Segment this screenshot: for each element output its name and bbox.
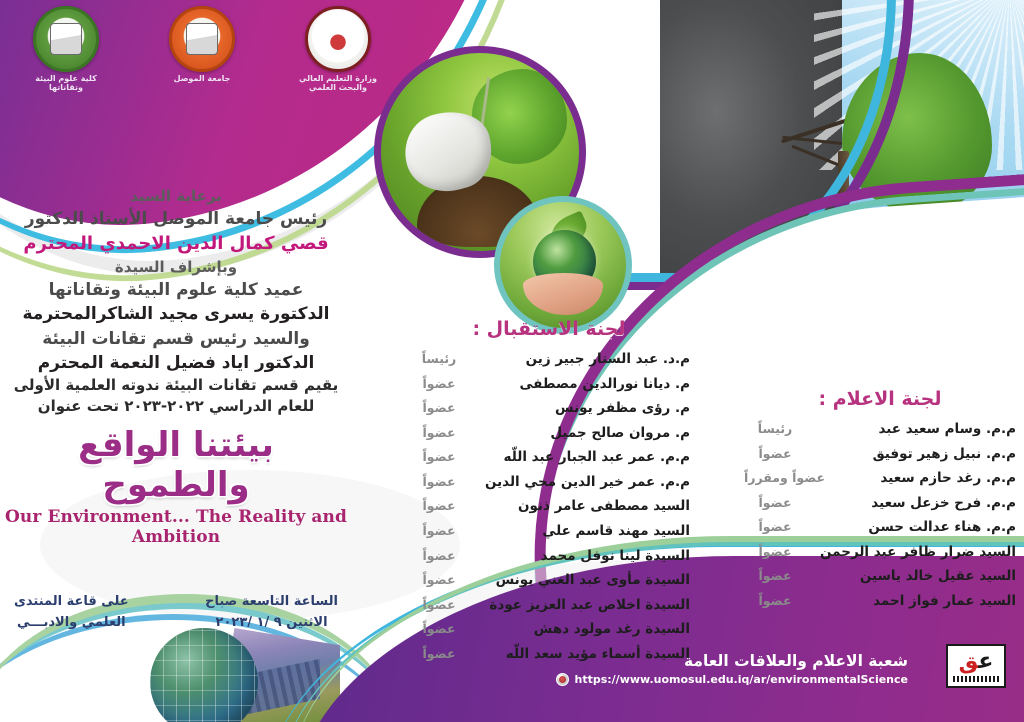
university-seal-icon [169, 6, 235, 72]
member-role: عضواً [408, 373, 470, 396]
member-name: السيدة اخلاص عبد العزيز عودة [489, 593, 690, 618]
university-of-mosul-logo: جامعة الموصل [154, 6, 250, 83]
media-committee-title: لجنة الاعلام : [744, 388, 1016, 410]
member-row: السيدة لينا نوفل محمدعضواً [408, 544, 690, 569]
member-row: م.د. عبد الستار جبير زينرئيساً [408, 347, 690, 372]
media-committee: لجنة الاعلام : م.م. وسام سعيد عبدرئيساً … [744, 388, 1016, 614]
member-name: م.م. هناء عدالت حسن [868, 515, 1016, 540]
split-tree-photo [660, 0, 1024, 378]
hand-holding-globe-photo [494, 196, 632, 334]
member-name: م.م. فرح خزعل سعيد [871, 491, 1016, 516]
member-role: عضواً [408, 643, 470, 666]
logo-caption: وزارة التعليم العالي والبحث العلمي [290, 74, 386, 92]
dead-branch [791, 145, 840, 167]
patronage-line-6: الدكتورة يسرى مجيد الشاكرالمحترمة [0, 302, 352, 326]
circle-rim-purple [608, 0, 914, 290]
member-row: م.م. عمر خير الدين محي الدينعضواً [408, 470, 690, 495]
member-row: م.م. نبيل زهير توفيقعضواً [744, 442, 1016, 467]
college-of-environmental-sciences-logo: كلية علوم البيئة وتقاناتها [18, 6, 114, 92]
logo-row: وزارة التعليم العالي والبحث العلمي جامعة… [18, 6, 386, 92]
member-role: عضواً [408, 422, 470, 445]
member-role: عضواً [744, 565, 806, 588]
media-member-list: م.م. وسام سعيد عبدرئيساً م.م. نبيل زهير … [744, 417, 1016, 614]
member-row: م.م. وسام سعيد عبدرئيساً [744, 417, 1016, 442]
member-row: م.م. فرح خزعل سعيدعضواً [744, 491, 1016, 516]
poster-root: وزارة التعليم العالي والبحث العلمي جامعة… [0, 0, 1024, 722]
member-name: السيد مهند قاسم علي [542, 519, 690, 544]
monogram-left-letter: ع [978, 649, 993, 674]
reception-committee: لجنة الاستقبال : م.د. عبد الستار جبير زي… [408, 318, 690, 666]
patronage-line-1: برعاية السيد [0, 186, 352, 207]
member-role: عضواً [408, 495, 470, 518]
member-role: رئيساً [408, 348, 470, 371]
member-row: السيد عقيل خالد ياسينعضواً [744, 564, 1016, 589]
dead-branch [782, 136, 842, 145]
member-role: عضواً [408, 618, 470, 641]
media-office-logo: عق [946, 644, 1006, 688]
event-time: الساعة التاسعة صباح [205, 592, 338, 613]
ground-crack [778, 265, 793, 378]
member-name: م.د. عبد الستار جبير زين [526, 347, 690, 372]
member-row: السيد مصطفى عامر ذنونعضواً [408, 494, 690, 519]
patronage-line-4: وبإشراف السيدة [0, 257, 352, 278]
member-name: السيدة رغد مولود دهش [534, 617, 690, 642]
member-row: م.م. هناء عدالت حسنعضواً [744, 515, 1016, 540]
open-book-icon [186, 23, 218, 55]
member-name: م.م. وسام سعيد عبد [878, 417, 1016, 442]
venue-line-1: على قاعة المنتدى [14, 592, 129, 613]
member-name: م.م. نبيل زهير توفيق [873, 442, 1016, 467]
footer-url-row[interactable]: https://www.uomosul.edu.iq/ar/environmen… [556, 673, 908, 686]
member-role: عضواً [408, 545, 470, 568]
open-book-icon [50, 23, 82, 55]
venue-line-2: العلمي والادبـــي [14, 613, 129, 634]
member-name: السيدة مأوى عبد الغني يونس [496, 568, 690, 593]
member-row: م.م. عمر عبد الجبار عبد اللّهعضواً [408, 445, 690, 470]
venue-column: على قاعة المنتدى العلمي والادبـــي [14, 592, 129, 652]
member-name: م.م. عمر خير الدين محي الدين [485, 470, 690, 495]
reception-member-list: م.د. عبد الستار جبير زينرئيساً م. ديانا … [408, 347, 690, 666]
member-row: السيدة مأوى عبد الغني يونسعضواً [408, 568, 690, 593]
member-name: م. مروان صالح جميل [550, 421, 690, 446]
storm-sky [660, 0, 849, 280]
member-role: عضواً [408, 446, 470, 469]
member-role: عضواً [408, 594, 470, 617]
member-name: السيد ضرار ظافر عبد الرحمن [820, 540, 1016, 565]
media-office-monogram: عق [959, 651, 994, 673]
member-role: عضواً [408, 471, 470, 494]
member-row: السيد عمار فواز احمدعضواً [744, 589, 1016, 614]
patronage-line-7: والسيد رئيس قسم تقانات البيئة [0, 327, 352, 351]
tree-trunk [838, 151, 849, 287]
circle-rim-cyan [596, 0, 896, 282]
ministry-of-higher-education-logo: وزارة التعليم العالي والبحث العلمي [290, 6, 386, 92]
patronage-line-8: الدكتور اياد فضيل النعمة المحترم [0, 351, 352, 375]
logo-caption: جامعة الموصل [154, 74, 250, 83]
member-row: م.م. رغد حازم سعيدعضواً ومقرراً [744, 466, 1016, 491]
event-date: الاثنين ٩ /١ /٢٠٢٣ [205, 613, 338, 634]
dead-branch [781, 118, 849, 143]
member-role: عضواً [744, 541, 806, 564]
ministry-seal-icon [305, 6, 371, 72]
member-name: م. رؤى مظفر يونس [555, 396, 690, 421]
footer-website-url[interactable]: https://www.uomosul.edu.iq/ar/environmen… [574, 673, 908, 686]
patronage-line-10: للعام الدراسي ٢٠٢٢-٢٠٢٣ تحت عنوان [0, 396, 352, 417]
member-name: السيد عمار فواز احمد [873, 589, 1016, 614]
date-time-column: الساعة التاسعة صباح الاثنين ٩ /١ /٢٠٢٣ [205, 592, 338, 652]
member-row: السيدة رغد مولود دهشعضواً [408, 617, 690, 642]
open-palm [523, 273, 604, 316]
solar-panel [234, 659, 320, 717]
member-name: م.م. عمر عبد الجبار عبد اللّه [504, 445, 690, 470]
member-role: عضواً [744, 443, 806, 466]
reception-committee-title: لجنة الاستقبال : [408, 318, 690, 340]
patronage-line-3: قصي كمال الدين الاحمدي المحترم [0, 231, 352, 257]
monogram-right-letter: ق [959, 649, 979, 674]
seminar-title-english: Our Environment... The Reality and Ambit… [0, 507, 352, 547]
logo-caption: كلية علوم البيئة وتقاناتها [18, 74, 114, 92]
logo-barcode-strip [953, 676, 999, 682]
member-name: م. ديانا نورالدين مصطفى [519, 372, 690, 397]
seminar-title-arabic: بيئتنا الواقع والطموح [0, 425, 352, 505]
member-role: عضواً ومقرراً [744, 467, 825, 490]
venue-and-date: الساعة التاسعة صباح الاثنين ٩ /١ /٢٠٢٣ ع… [0, 592, 352, 652]
member-row: السيد ضرار ظافر عبد الرحمنعضواً [744, 540, 1016, 565]
hand-emblem-icon [322, 23, 354, 55]
split-ground [660, 257, 1024, 378]
green-canopy [842, 53, 992, 213]
member-row: م. مروان صالح جميلعضواً [408, 421, 690, 446]
member-role: عضواً [408, 569, 470, 592]
patronage-line-2: رئيس جامعة الموصل الأستاذ الدكتور [0, 207, 352, 231]
member-role: عضواً [408, 520, 470, 543]
member-row: السيدة اخلاص عبد العزيز عودةعضواً [408, 593, 690, 618]
member-row: م. رؤى مظفر يونسعضواً [408, 396, 690, 421]
footer-department-name: شعبة الاعلام والعلاقات العامة [556, 652, 908, 670]
member-role: عضواً [744, 590, 806, 613]
member-role: عضواً [408, 397, 470, 420]
website-globe-icon [556, 673, 569, 686]
sun-rays [814, 0, 1024, 170]
member-row: م. ديانا نورالدين مصطفىعضواً [408, 372, 690, 397]
member-name: م.م. رغد حازم سعيد [880, 466, 1016, 491]
patronage-line-9: يقيم قسم تقانات البيئة ندوته العلمية الأ… [0, 375, 352, 396]
college-seal-icon [33, 6, 99, 72]
member-row: السيد مهند قاسم عليعضواً [408, 519, 690, 544]
member-name: السيد مصطفى عامر ذنون [518, 494, 690, 519]
member-role: عضواً [744, 492, 806, 515]
member-role: رئيساً [744, 418, 806, 441]
footer-credit: شعبة الاعلام والعلاقات العامة https://ww… [556, 652, 908, 686]
member-name: السيد عقيل خالد ياسين [860, 564, 1016, 589]
patronage-line-5: عميد كلية علوم البيئة وتقاناتها [0, 278, 352, 302]
patronage-block: برعاية السيد رئيس جامعة الموصل الأستاذ ا… [0, 186, 352, 547]
clear-sky [842, 0, 1024, 280]
member-role: عضواً [744, 516, 806, 539]
member-name: السيدة لينا نوفل محمد [541, 544, 690, 569]
